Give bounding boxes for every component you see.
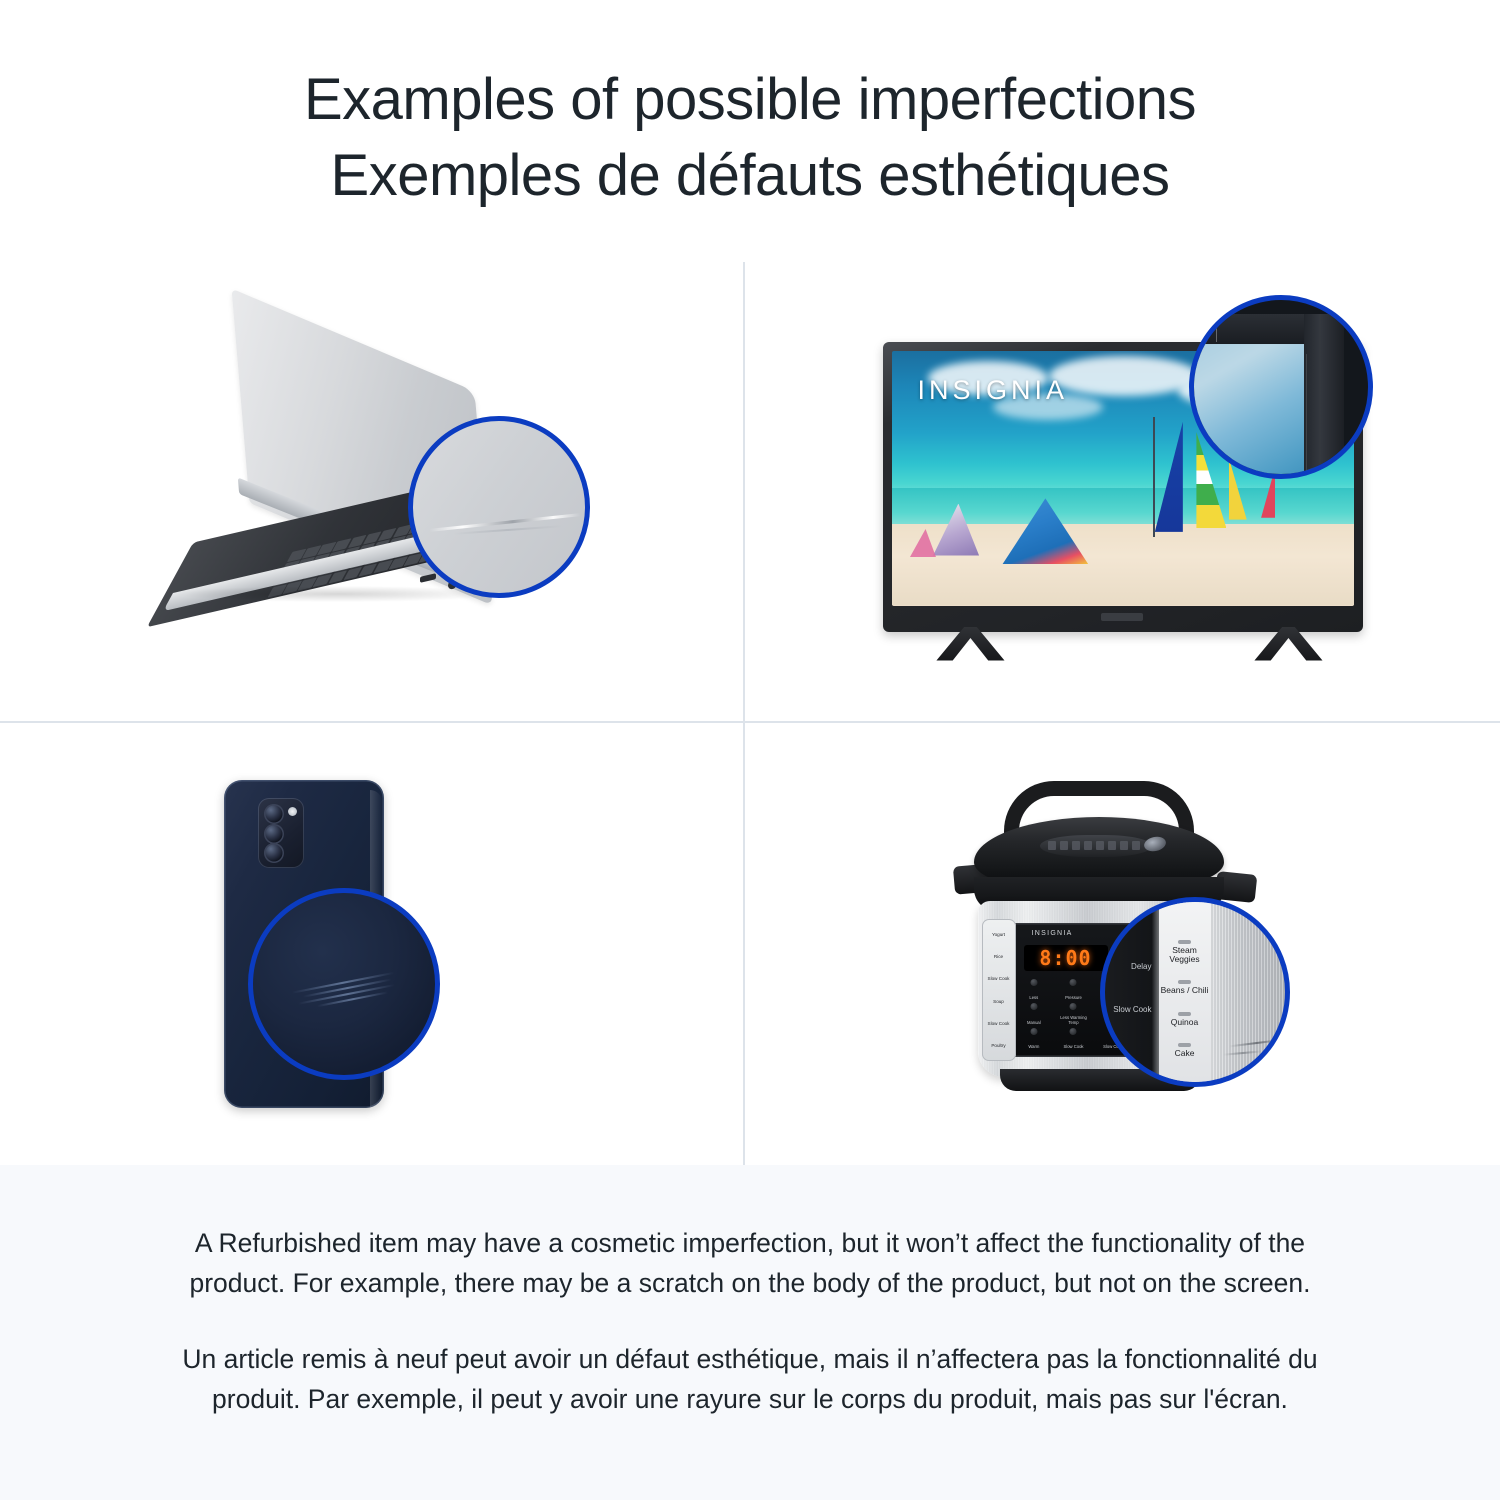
cooker-magnified-button: Cake <box>1159 1043 1211 1058</box>
cooker-led-display: 8:00 <box>1024 945 1108 971</box>
tv-magnifier-circle <box>1189 295 1373 479</box>
cooker-magnified-button: Steam Veggies <box>1159 940 1211 965</box>
tv-magnified-bezel-right <box>1304 314 1344 479</box>
cooker-magnified-button-column: Steam Veggies Beans / Chili Quinoa Cake <box>1159 897 1211 1087</box>
refurbished-imperfections-infographic: Examples of possible imperfections Exemp… <box>0 0 1500 1500</box>
cooker-magnified-button: Beans / Chili <box>1159 980 1211 995</box>
laptop-magnifier-circle <box>408 416 590 598</box>
cooker-scratch-mark-secondary <box>1223 1050 1263 1055</box>
tv-stand-right <box>1249 627 1323 661</box>
tv-mast <box>1153 417 1155 537</box>
cooker-keypad-button[interactable]: Less Warming Temp <box>1055 1003 1092 1024</box>
cooker-button[interactable]: Slow Cook <box>988 976 1010 981</box>
tv-stand-left <box>931 627 1005 661</box>
cooker-magnified-label: Slow Cook <box>1105 1005 1155 1014</box>
tv-brand-label: INSIGNIA <box>918 375 1069 406</box>
phone-flash-icon <box>288 807 297 816</box>
laptop-illustration <box>152 342 592 642</box>
panel-phone <box>0 723 745 1165</box>
phone-camera-lens-icon <box>264 843 284 863</box>
page-title-french: Exemples de défauts esthétiques <box>331 138 1170 214</box>
cooker-button[interactable]: Yogurt <box>992 932 1005 937</box>
phone-illustration <box>202 774 542 1114</box>
laptop-shadow <box>178 586 498 602</box>
phone-scratch-marks <box>291 971 403 1014</box>
disclaimer-english: A Refurbished item may have a cosmetic i… <box>180 1223 1320 1303</box>
cooker-button[interactable]: Poultry <box>991 1043 1005 1048</box>
tv-illustration: INSIGNIA <box>873 317 1373 667</box>
cooker-keypad-button[interactable]: Pressure <box>1055 979 1092 1000</box>
cooker-scratch-mark <box>1229 1039 1285 1048</box>
cooker-keypad-button[interactable]: Warm <box>1016 1028 1053 1049</box>
product-examples-grid: INSIGNIA <box>0 262 1500 1165</box>
cooker-magnified-button: Quinoa <box>1159 1012 1211 1027</box>
panel-laptop <box>0 262 745 723</box>
phone-camera-module <box>258 798 304 868</box>
tv-logo-plate <box>1101 613 1143 621</box>
panel-tv: INSIGNIA <box>745 262 1500 723</box>
cooker-brand-label: INSIGNIA <box>1032 930 1073 937</box>
cooker-magnified-left-labels: Delay Slow Cook <box>1105 962 1155 1014</box>
disclaimer-french: Un article remis à neuf peut avoir un dé… <box>180 1339 1320 1419</box>
cooker-keypad-button[interactable]: Manual <box>1016 1003 1053 1024</box>
page-header: Examples of possible imperfections Exemp… <box>0 0 1500 262</box>
cooker-button[interactable]: Rice <box>994 954 1003 959</box>
footer-disclaimer: A Refurbished item may have a cosmetic i… <box>0 1165 1500 1500</box>
cooker-keypad-button[interactable]: Less <box>1016 979 1053 1000</box>
pressure-cooker-illustration: Yogurt Rice Slow Cook Soup Slow Cook Pou… <box>948 769 1298 1119</box>
page-title-english: Examples of possible imperfections <box>304 62 1196 138</box>
phone-magnifier-circle <box>248 888 440 1080</box>
tv-cloud <box>1049 356 1199 396</box>
panel-pressure-cooker: Yogurt Rice Slow Cook Soup Slow Cook Pou… <box>745 723 1500 1165</box>
cooker-display-value: 8:00 <box>1039 946 1091 970</box>
cooker-button[interactable]: Soup <box>993 999 1004 1004</box>
cooker-lid-vent-panel <box>1040 835 1152 857</box>
phone-camera-lens-icon <box>264 824 284 844</box>
cooker-magnifier-circle: Delay Slow Cook Steam Veggies Beans / Ch… <box>1100 897 1290 1087</box>
cooker-button[interactable]: Slow Cook <box>988 1021 1010 1026</box>
cooker-magnified-label: Delay <box>1105 962 1155 971</box>
phone-camera-lens-icon <box>264 804 284 824</box>
tv-magnified-screen-area <box>1189 340 1316 479</box>
cooker-left-button-column[interactable]: Yogurt Rice Slow Cook Soup Slow Cook Pou… <box>982 919 1016 1061</box>
cooker-keypad-button[interactable]: Slow Cook <box>1055 1028 1092 1049</box>
tv-bezel-scuff-mark <box>1216 316 1217 342</box>
